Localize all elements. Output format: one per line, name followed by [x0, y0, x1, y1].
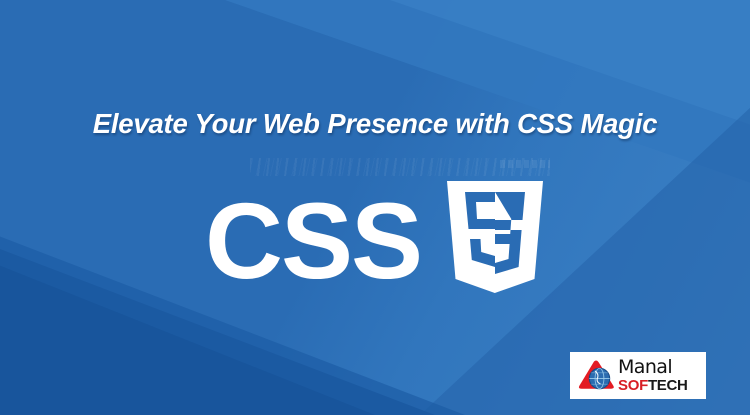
- brand-subtitle: SOFTECH: [618, 378, 688, 393]
- css-promo-banner: Elevate Your Web Presence with CSS Magic…: [0, 0, 750, 415]
- brand-subtitle-sof: SOF: [618, 377, 648, 394]
- background-artifact-texture-secondary: [500, 160, 550, 168]
- manal-softech-mark: [575, 358, 617, 394]
- css-wordmark: CSS: [205, 191, 421, 290]
- banner-headline: Elevate Your Web Presence with CSS Magic: [0, 108, 750, 140]
- brand-text-group: Manal SOFTECH: [618, 358, 688, 393]
- css3-logo: CSS: [205, 178, 565, 303]
- brand-subtitle-tech: TECH: [648, 377, 688, 394]
- brand-logo-card: Manal SOFTECH: [570, 352, 706, 399]
- triangle-globe-icon: [575, 358, 617, 394]
- brand-name: Manal: [618, 358, 688, 377]
- css3-shield-icon: [447, 181, 543, 301]
